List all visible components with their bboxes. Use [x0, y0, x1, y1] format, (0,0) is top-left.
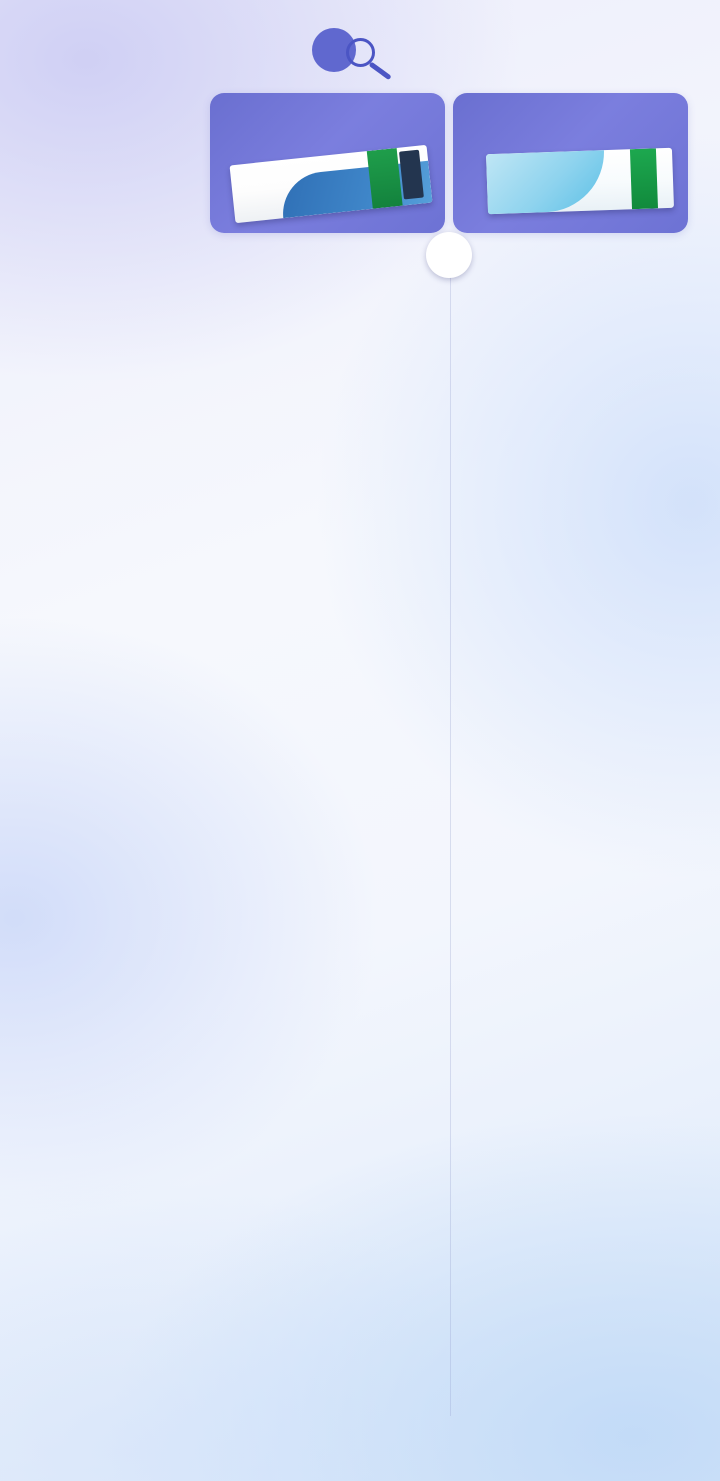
magnifier-handle-icon: [369, 61, 392, 80]
box-green-panel: [630, 148, 658, 209]
product-image-doxycycline: [486, 148, 674, 214]
product-image-minocycline: [230, 145, 433, 223]
comparison-header: [0, 93, 720, 233]
brand-logo: [0, 25, 720, 77]
header-card-doxycycline: [453, 93, 688, 233]
infographic-page: [0, 0, 720, 1481]
header-card-minocycline: [210, 93, 445, 233]
box-green-panel: [367, 148, 403, 209]
box-cyan-panel: [486, 150, 606, 214]
vs-badge: [426, 232, 472, 278]
box-dark-panel: [399, 150, 424, 200]
box-side-text: [239, 167, 313, 175]
column-divider: [450, 236, 451, 1416]
